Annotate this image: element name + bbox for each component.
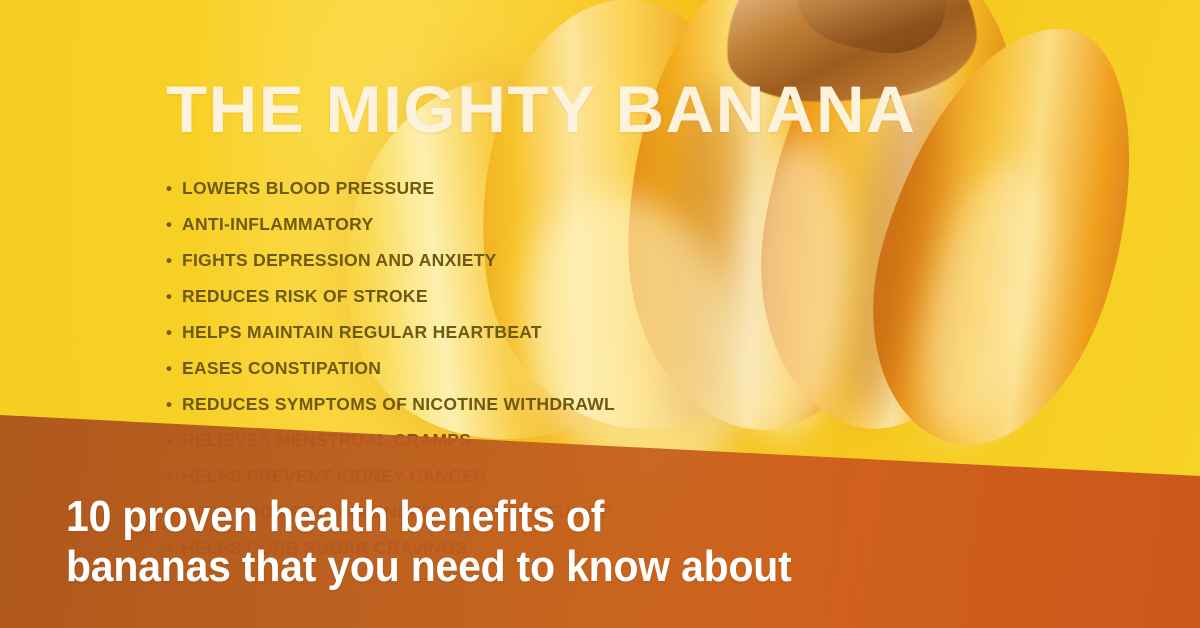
headline: 10 proven health benefits of bananas tha…: [66, 492, 792, 592]
list-item-label: ANTI-INFLAMMATORY: [182, 214, 373, 235]
infographic-banner: THE MIGHTY BANANA • LOWERS BLOOD PRESSUR…: [0, 0, 1200, 628]
list-item: • HELPS MAINTAIN REGULAR HEARTBEAT: [166, 322, 886, 358]
bullet-dot-icon: •: [166, 252, 178, 269]
bullet-dot-icon: •: [166, 288, 178, 305]
page-title: THE MIGHTY BANANA: [166, 76, 916, 142]
bullet-dot-icon: •: [166, 360, 178, 377]
list-item-label: REDUCES SYMPTOMS OF NICOTINE WITHDRAWL: [182, 394, 615, 415]
list-item: • FIGHTS DEPRESSION AND ANXIETY: [166, 250, 886, 286]
bullet-dot-icon: •: [166, 216, 178, 233]
bullet-dot-icon: •: [166, 324, 178, 341]
list-item: • ANTI-INFLAMMATORY: [166, 214, 886, 250]
headline-line-1: 10 proven health benefits of: [66, 492, 792, 542]
list-item-label: LOWERS BLOOD PRESSURE: [182, 178, 434, 199]
list-item-label: FIGHTS DEPRESSION AND ANXIETY: [182, 250, 497, 271]
list-item: • LOWERS BLOOD PRESSURE: [166, 178, 886, 214]
list-item-label: HELPS MAINTAIN REGULAR HEARTBEAT: [182, 322, 542, 343]
list-item-label: EASES CONSTIPATION: [182, 358, 381, 379]
list-item: • REDUCES SYMPTOMS OF NICOTINE WITHDRAWL: [166, 394, 886, 430]
bullet-dot-icon: •: [166, 180, 178, 197]
list-item-label: REDUCES RISK OF STROKE: [182, 286, 428, 307]
list-item: • REDUCES RISK OF STROKE: [166, 286, 886, 322]
headline-line-2: bananas that you need to know about: [66, 542, 792, 592]
list-item: • EASES CONSTIPATION: [166, 358, 886, 394]
bullet-dot-icon: •: [166, 396, 178, 413]
